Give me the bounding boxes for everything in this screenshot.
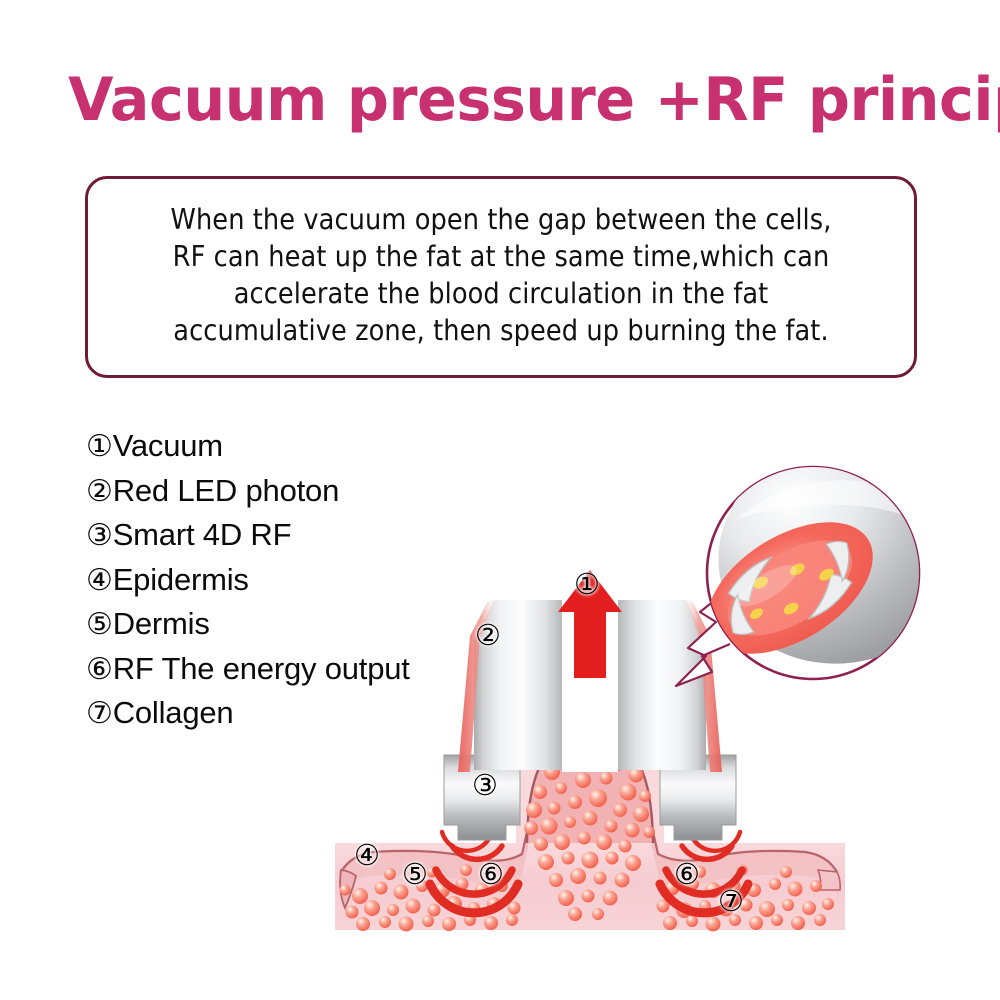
page-title: Vacuum pressure +RF principle	[68, 64, 930, 136]
diagram-marker-7: ⑦	[718, 887, 744, 916]
treatment-principle-illustration: ① ② ③ ④ ⑤ ⑥ ⑥ ⑦	[0, 400, 1000, 1000]
vacuum-applicator-left	[458, 596, 562, 772]
description-line-1: When the vacuum open the gap between the…	[106, 201, 896, 238]
description-line-3: accelerate the blood circulation in the …	[106, 275, 896, 312]
diagram-marker-6-right: ⑥	[674, 860, 700, 889]
diagram-marker-3: ③	[472, 771, 498, 800]
infographic-page: Vacuum pressure +RF principle When the v…	[0, 0, 1000, 1000]
diagram-marker-6-left: ⑥	[478, 860, 504, 889]
description-line-4: accumulative zone, then speed up burning…	[106, 312, 896, 349]
diagram-marker-4: ④	[354, 841, 380, 870]
description-text: When the vacuum open the gap between the…	[106, 201, 896, 349]
diagram-marker-5: ⑤	[402, 860, 428, 889]
device-head-callout	[676, 404, 1000, 696]
vacuum-applicator-right	[618, 596, 722, 772]
description-box: When the vacuum open the gap between the…	[85, 176, 917, 378]
description-line-2: RF can heat up the fat at the same time,…	[106, 238, 896, 275]
diagram-marker-1: ①	[574, 570, 600, 599]
diagram-marker-2: ②	[475, 621, 501, 650]
